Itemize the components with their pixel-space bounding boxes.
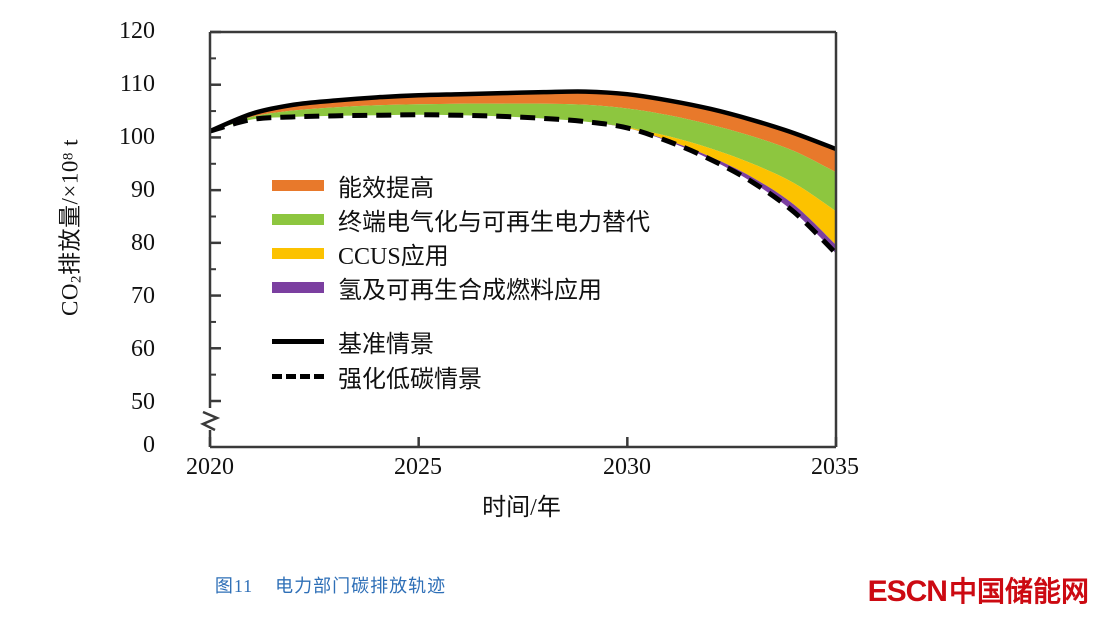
y-tick-label-50: 50 <box>93 389 155 416</box>
y-tick-label-110: 110 <box>93 71 155 98</box>
y-tick-label-70: 70 <box>93 283 155 310</box>
legend-swatch-green <box>272 214 324 225</box>
figure-caption-text: 电力部门碳排放轨迹 <box>275 572 446 598</box>
legend-label-baseline: 基准情景 <box>338 324 434 359</box>
watermark-latin-text: ESCN <box>868 575 947 609</box>
y-tick-label-60: 60 <box>93 336 155 363</box>
legend-solid-line-icon <box>272 339 324 344</box>
x-tick-label-2035: 2035 <box>775 454 895 481</box>
legend-swatch-yellow <box>272 248 324 259</box>
legend-item-ccus[interactable]: CCUS应用 <box>272 236 650 270</box>
y-tick-label-90: 90 <box>93 177 155 204</box>
legend-label-efficiency: 能效提高 <box>338 168 434 203</box>
y-tick-label-0: 0 <box>93 432 155 459</box>
legend-item-electrification[interactable]: 终端电气化与可再生电力替代 <box>272 202 650 236</box>
watermark-chinese-text: 中国储能网 <box>949 570 1089 610</box>
legend-divider <box>272 304 650 324</box>
y-tick-label-120: 120 <box>93 18 155 45</box>
legend-swatch-purple <box>272 282 324 293</box>
x-axis-title: 时间/年 <box>0 487 1101 522</box>
x-tick-label-2020: 2020 <box>150 454 270 481</box>
chart-plot-area: CO2排放量/×108 t 120 110 100 90 80 70 60 50… <box>0 0 1101 545</box>
legend-label-hydrogen: 氢及可再生合成燃料应用 <box>338 270 602 305</box>
escn-watermark-logo: ESCN 中国储能网 <box>868 570 1089 610</box>
chart-legend: 能效提高 终端电气化与可再生电力替代 CCUS应用 氢及可再生合成燃料应用 基准… <box>272 168 650 394</box>
figure-root: CO2排放量/×108 t 120 110 100 90 80 70 60 50… <box>0 0 1101 630</box>
y-axis-break-symbol <box>203 412 217 430</box>
y-tick-label-100: 100 <box>93 124 155 151</box>
legend-item-lowcarbon-scenario[interactable]: 强化低碳情景 <box>272 359 650 394</box>
legend-label-lowcarbon: 强化低碳情景 <box>338 359 482 394</box>
x-tick-label-2030: 2030 <box>567 454 687 481</box>
legend-label-ccus: CCUS应用 <box>338 236 449 271</box>
x-tick-label-2025: 2025 <box>358 454 478 481</box>
y-axis-title: CO2排放量/×108 t <box>51 98 86 358</box>
legend-item-hydrogen[interactable]: 氢及可再生合成燃料应用 <box>272 270 650 304</box>
legend-dashed-line-icon <box>272 374 324 379</box>
legend-item-baseline-scenario[interactable]: 基准情景 <box>272 324 650 359</box>
legend-item-efficiency[interactable]: 能效提高 <box>272 168 650 202</box>
y-tick-label-80: 80 <box>93 230 155 257</box>
legend-label-electrification: 终端电气化与可再生电力替代 <box>338 202 650 237</box>
legend-swatch-orange <box>272 180 324 191</box>
figure-caption-number: 图11 <box>215 572 253 598</box>
